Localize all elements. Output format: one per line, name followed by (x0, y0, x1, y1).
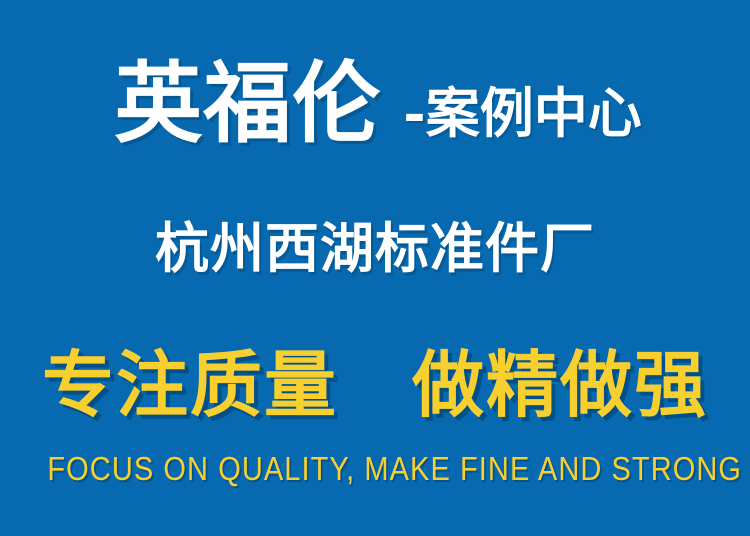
slogan-en-row: FOCUS ON QUALITY, MAKE FINE AND STRONG (0, 452, 750, 485)
brand-section-label: -案例中心 (403, 86, 641, 140)
slogan-english: FOCUS ON QUALITY, MAKE FINE AND STRONG (47, 452, 742, 485)
slogan-chinese: 专注质量 做精做强 (42, 343, 708, 427)
company-name-row: 杭州西湖标准件厂 (0, 222, 750, 276)
promo-banner: 英福伦 -案例中心 杭州西湖标准件厂 专注质量 做精做强 FOCUS ON QU… (0, 0, 750, 536)
company-name: 杭州西湖标准件厂 (155, 217, 595, 280)
brand-name: 英福伦 (114, 60, 381, 148)
brand-row: 英福伦 -案例中心 (0, 34, 750, 146)
slogan-cn-row: 专注质量 做精做强 (0, 349, 750, 421)
